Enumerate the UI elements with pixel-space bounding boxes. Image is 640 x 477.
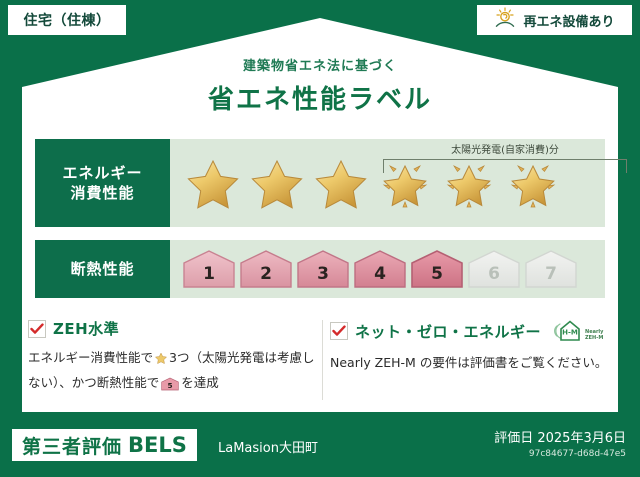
title-subtitle: 建築物省エネ法に基づく	[0, 55, 640, 74]
energy-label-line2: 消費性能	[70, 183, 134, 203]
criterion-zeh-body: エネルギー消費性能で3つ（太陽光発電は考慮しない）、かつ断熱性能で5を達成	[28, 347, 318, 398]
criterion-net-zero-energy: ネット・ゼロ・エネルギー H-M Nearly ZEH-M Nearly ZEH…	[330, 318, 620, 374]
page-title: 建築物省エネ法に基づく 省エネ性能ラベル	[0, 55, 640, 116]
svg-text:H-M: H-M	[562, 329, 578, 337]
star-icon	[246, 152, 308, 214]
renewable-equipment-label: 再エネ設備あり	[523, 11, 614, 30]
insulation-step-value: 7	[545, 264, 557, 290]
star-solar-icon	[438, 152, 500, 214]
criterion-zeh-text-3: を達成	[181, 375, 219, 390]
energy-performance-label-cell: エネルギー 消費性能	[35, 139, 170, 227]
insulation-step-value: 5	[431, 264, 443, 290]
insulation-scale: 1 2 3	[170, 248, 578, 290]
inline-star-icon	[154, 353, 168, 368]
checkbox-checked-icon	[330, 322, 348, 340]
insulation-step-value: 4	[374, 264, 386, 290]
insulation-step-value: 3	[317, 264, 329, 290]
insulation-step: 7	[524, 248, 578, 290]
building-name: LaMasion大田町	[218, 437, 318, 456]
energy-label-line1: エネルギー	[62, 163, 142, 183]
criteria-divider	[322, 320, 323, 400]
title-main: 省エネ性能ラベル	[0, 79, 640, 116]
criterion-zeh: ZEH水準 エネルギー消費性能で3つ（太陽光発電は考慮しない）、かつ断熱性能で5…	[28, 318, 318, 398]
criterion-zeh-text-1: エネルギー消費性能で	[28, 350, 153, 365]
dwelling-type-label: 住宅（住棟）	[24, 10, 111, 30]
insulation-step: 4	[353, 248, 407, 290]
insulation-step: 3	[296, 248, 350, 290]
checkbox-checked-icon	[28, 320, 46, 338]
bels-badge: 第三者評価 BELS	[12, 429, 197, 461]
insulation-performance-row: 断熱性能 1 2	[35, 240, 605, 298]
star-icon	[310, 152, 372, 214]
energy-performance-value-cell: 太陽光発電(自家消費)分	[170, 139, 605, 227]
insulation-step: 1	[182, 248, 236, 290]
energy-performance-label: 住宅（住棟） 再エネ設備あり 建築物省エネ法に基づく 省エネ性能ラベル	[0, 0, 640, 477]
zeh-m-logo-caption-2: ZEH-M	[585, 336, 603, 342]
insulation-step-value: 2	[260, 264, 272, 290]
evaluation-date: 評価日 2025年3月6日	[494, 427, 626, 446]
insulation-step: 5	[410, 248, 464, 290]
inline-house-icon: 5	[161, 379, 179, 394]
star-solar-icon	[374, 152, 436, 214]
energy-performance-row: エネルギー 消費性能 太陽光発電(自家消費)分	[35, 139, 605, 227]
criterion-zeh-title: ZEH水準	[53, 318, 119, 339]
solar-sun-icon	[494, 7, 518, 33]
criterion-nze-body: Nearly ZEH-M の要件は評価書をご覧ください。	[330, 352, 620, 374]
dwelling-type-badge: 住宅（住棟）	[8, 5, 126, 35]
insulation-step-value: 6	[488, 264, 500, 290]
bels-jp-label: 第三者評価	[22, 432, 122, 459]
renewable-equipment-badge: 再エネ設備あり	[477, 5, 632, 35]
footer: 第三者評価 BELS LaMasion大田町 評価日 2025年3月6日 97c…	[0, 415, 640, 477]
insulation-step: 6	[467, 248, 521, 290]
insulation-performance-label-cell: 断熱性能	[35, 240, 170, 298]
evaluation-info: 評価日 2025年3月6日 97c84677-d68d-47e5	[494, 427, 626, 459]
criterion-zeh-header: ZEH水準	[28, 318, 318, 339]
criterion-nze-title: ネット・ゼロ・エネルギー	[355, 321, 541, 342]
evaluation-id: 97c84677-d68d-47e5	[494, 449, 626, 459]
zeh-m-logo: H-M Nearly ZEH-M	[552, 318, 603, 344]
insulation-performance-value-cell: 1 2 3	[170, 240, 605, 298]
star-icon	[182, 152, 244, 214]
insulation-label: 断熱性能	[70, 259, 134, 279]
insulation-step: 2	[239, 248, 293, 290]
bels-en-label: BELS	[128, 433, 187, 457]
svg-text:5: 5	[168, 381, 173, 390]
insulation-step-value: 1	[203, 264, 215, 290]
star-rating	[170, 152, 564, 214]
criterion-nze-header: ネット・ゼロ・エネルギー H-M Nearly ZEH-M	[330, 318, 620, 344]
star-solar-icon	[502, 152, 564, 214]
